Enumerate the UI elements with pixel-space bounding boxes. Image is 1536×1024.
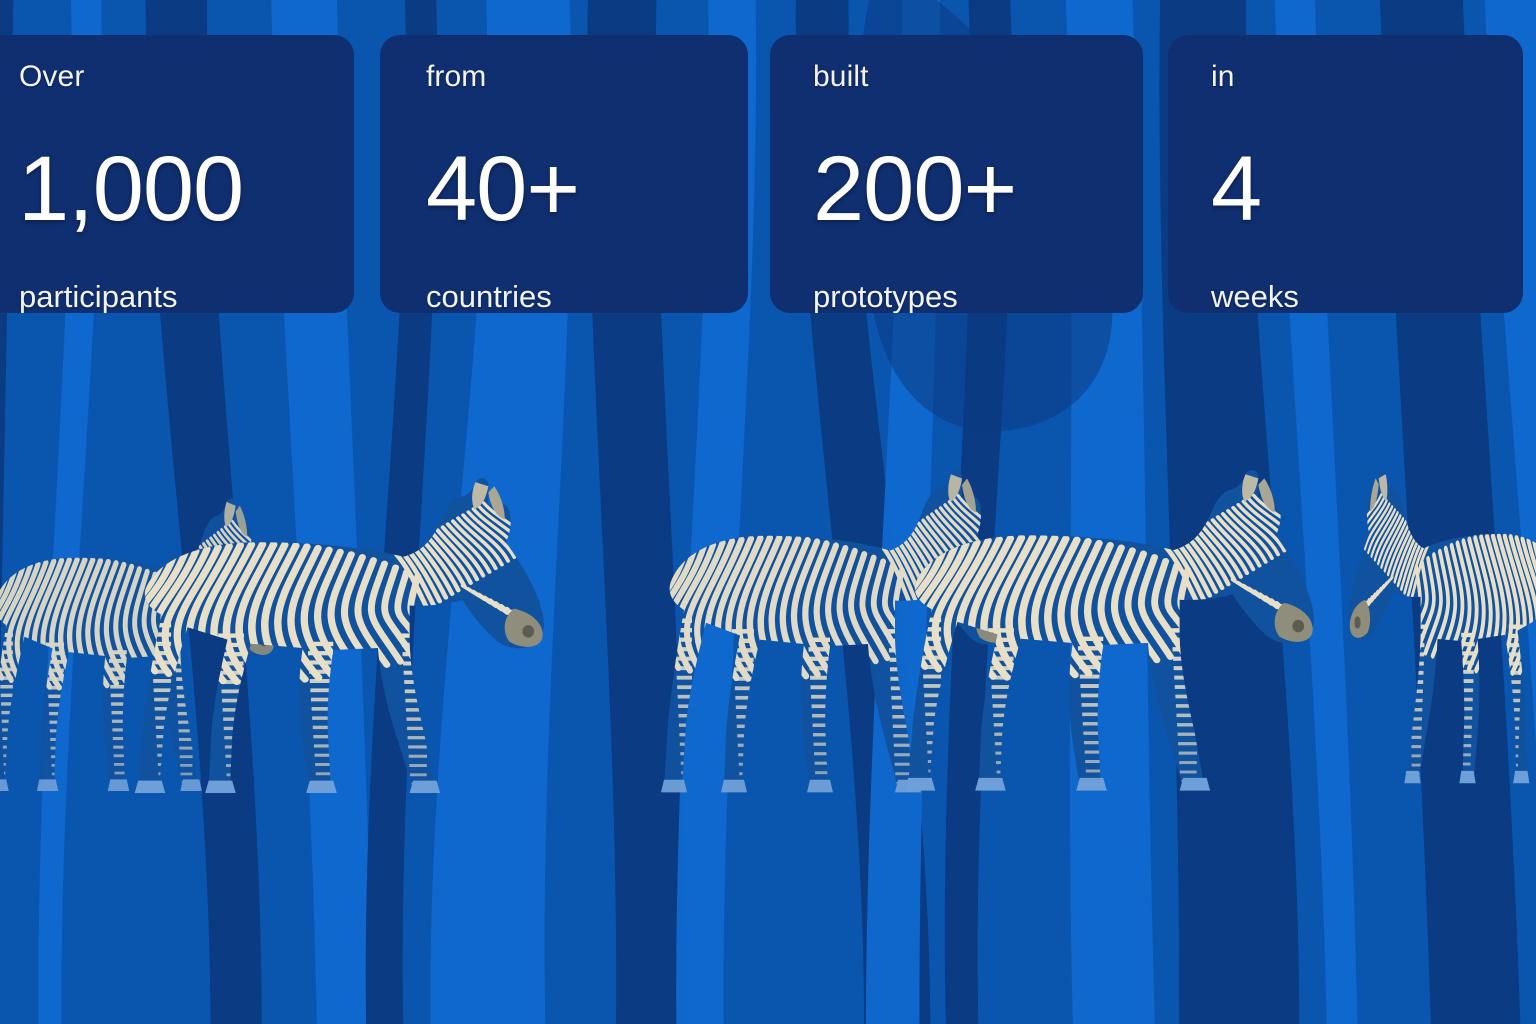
hero-banner: Over 1,000 participants from 40+ countri… (0, 0, 1536, 1024)
zebra-nostril (522, 625, 534, 637)
zebra-hoof (975, 778, 1006, 791)
stat-label: weeks (1211, 281, 1299, 312)
zebra (110, 478, 580, 820)
stat-value: 200+ (813, 143, 1016, 235)
stat-eyebrow: Over (19, 62, 354, 92)
zebra-hoof (721, 780, 747, 793)
zebra-hoof (1410, 778, 1433, 791)
zebra-hoof (0, 779, 9, 791)
zebra (1180, 474, 1536, 818)
zebra-hoof (1199, 778, 1222, 791)
zebra-hoof (661, 780, 687, 793)
zebra-hoof (807, 780, 833, 793)
zebra-hoof (37, 779, 58, 791)
zebra-hoof (135, 781, 166, 793)
stat-card-countries: from 40+ countries (380, 35, 748, 313)
stat-value: 40+ (426, 143, 579, 235)
stat-card-participants: Over 1,000 participants (0, 35, 354, 313)
stat-value: 1,000 (18, 143, 243, 235)
stat-eyebrow-wrap: from (417, 62, 748, 92)
stat-eyebrow: built (813, 62, 1143, 92)
stat-eyebrow: in (1211, 62, 1523, 92)
zebra-hoof (306, 781, 337, 793)
stat-eyebrow-wrap: built (807, 62, 1143, 92)
stats-card-row: Over 1,000 participants from 40+ countri… (0, 0, 1536, 330)
stat-card-prototypes: built 200+ prototypes (770, 35, 1143, 313)
stat-label: countries (426, 281, 552, 312)
stat-label: participants (19, 281, 178, 312)
zebra-hoof (1076, 778, 1107, 791)
zebra-hoof (905, 778, 936, 791)
zebra-hoof (1330, 778, 1353, 791)
stat-label: prototypes (813, 281, 958, 312)
zebra-hoof (410, 781, 441, 793)
stat-card-weeks: in 4 weeks (1168, 35, 1523, 313)
zebra-hoof (205, 781, 236, 793)
stat-value: 4 (1211, 143, 1261, 235)
stat-eyebrow-wrap: in (1205, 62, 1523, 92)
stat-eyebrow-wrap: Over (19, 62, 354, 92)
zebra-nostril (1496, 622, 1505, 635)
zebra-hoof (1253, 778, 1276, 791)
stat-eyebrow: from (426, 62, 748, 92)
